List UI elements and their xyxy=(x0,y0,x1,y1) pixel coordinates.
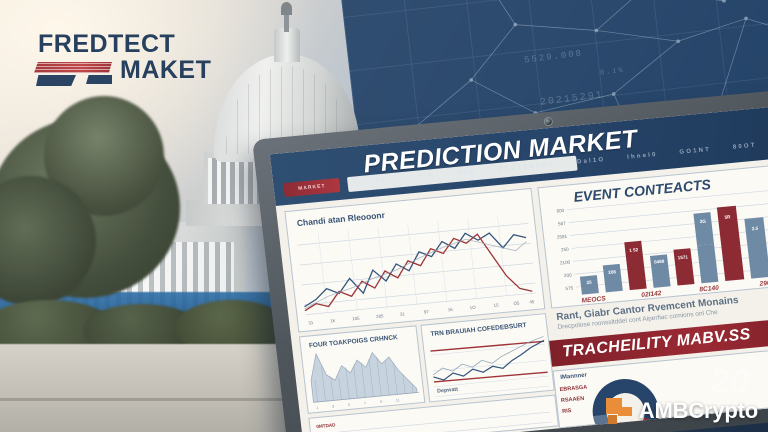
market-badge-label: MARKET xyxy=(283,178,340,197)
threshold-chart-plot: Depwatt xyxy=(421,314,555,403)
svg-text:208: 208 xyxy=(608,269,617,275)
svg-text:31: 31 xyxy=(400,311,406,316)
svg-text:2581: 2581 xyxy=(557,234,568,240)
svg-text:600: 600 xyxy=(556,208,565,214)
tablet-device: PREDICTION MARKET MARKET THE 7 0 R BEN P… xyxy=(252,89,768,432)
donut-legend-item-2: RIS xyxy=(562,406,590,415)
stone-ledge-foreground xyxy=(0,344,310,432)
capitol-dome-lantern xyxy=(274,28,300,62)
svg-text:5R: 5R xyxy=(724,214,731,220)
ambcrypto-square-logo-icon xyxy=(606,398,632,424)
us-flag-stripes-icon xyxy=(34,62,112,86)
svg-text:2100: 2100 xyxy=(560,260,571,266)
svg-text:31: 31 xyxy=(308,320,314,325)
line-chart-plot: 311k105 2853197 161O15 O545 xyxy=(286,189,547,334)
donut-legend-item-0: EBRASGA xyxy=(559,385,587,394)
svg-text:9: 9 xyxy=(380,400,382,404)
svg-text:97: 97 xyxy=(424,309,430,314)
tablet-screen: PREDICTION MARKET MARKET THE 7 0 R BEN P… xyxy=(270,106,768,432)
donut-legend-item-1: RSAAEN xyxy=(561,395,589,404)
nav-item-6[interactable]: GO1NT xyxy=(679,147,711,156)
bar-chart-plot: 6005672581 2502100200 575 xyxy=(538,165,768,309)
svg-text:5: 5 xyxy=(348,403,350,407)
svg-text:2.5: 2.5 xyxy=(752,226,759,232)
front-camera-icon xyxy=(543,117,553,127)
area-chart-panel[interactable]: FOUR TOAKPOIGS CRHNCK 135 xyxy=(299,325,425,414)
capitol-spire xyxy=(284,12,289,32)
line-chart-panel[interactable]: Chandi atan Rleooonr xyxy=(284,188,545,333)
threshold-chart-panel[interactable]: TRN BRAUIAH COFEDEBSURT Depwatt xyxy=(420,313,554,402)
brand-logo: FREDTECT MAKET xyxy=(30,30,260,88)
svg-text:0468: 0468 xyxy=(654,259,665,265)
svg-text:8C140: 8C140 xyxy=(699,285,719,294)
area-chart-plot: 135 7911 xyxy=(300,326,426,415)
svg-text:15: 15 xyxy=(493,302,499,307)
svg-text:2900: 2900 xyxy=(758,279,768,287)
svg-text:11: 11 xyxy=(396,398,400,402)
svg-text:1 52: 1 52 xyxy=(629,247,639,253)
svg-text:1571: 1571 xyxy=(677,254,688,260)
svg-text:02I142: 02I142 xyxy=(641,290,662,299)
market-badge[interactable]: MARKET xyxy=(283,178,340,197)
ledge-seam xyxy=(0,398,310,401)
svg-text:1: 1 xyxy=(316,406,318,410)
year-overlay: 20 xyxy=(710,363,750,402)
statue-of-freedom-icon xyxy=(281,2,292,15)
footer-strip-label: 0MTDAD xyxy=(316,422,336,429)
svg-text:567: 567 xyxy=(558,221,567,227)
donut-legend: EBRASGA RSAAEN RIS xyxy=(559,385,590,415)
svg-text:16: 16 xyxy=(448,307,454,312)
svg-text:250: 250 xyxy=(561,247,570,253)
svg-text:25: 25 xyxy=(586,280,592,285)
nav-item-7[interactable]: 80OT xyxy=(733,143,757,151)
svg-text:O5: O5 xyxy=(513,300,520,306)
svg-text:1O: 1O xyxy=(469,305,476,311)
bar-chart-panel[interactable]: EVENT CONTEACTS 6005672581 2502100200 57… xyxy=(537,164,768,308)
donut-chart-title: IMannner xyxy=(560,372,587,380)
svg-text:285: 285 xyxy=(376,313,384,319)
svg-text:2G: 2G xyxy=(700,219,707,225)
ambcrypto-watermark: AMBCrypto xyxy=(606,398,758,424)
svg-text:1k: 1k xyxy=(330,318,336,323)
brand-logo-line2: MAKET xyxy=(120,56,211,85)
svg-text:MEOCS: MEOCS xyxy=(581,295,606,304)
ambcrypto-watermark-text: AMBCrypto xyxy=(639,398,758,424)
svg-text:45: 45 xyxy=(529,299,535,304)
screenshot-stage: 5529.008 20215291 8.1% 1,25 FREDTECT MAK… xyxy=(0,0,768,432)
threshold-chart-sub-label: Depwatt xyxy=(437,387,459,395)
nav-item-4[interactable]: Dal1O xyxy=(577,157,606,166)
svg-text:7: 7 xyxy=(364,401,366,405)
svg-text:575: 575 xyxy=(565,285,574,291)
svg-text:105: 105 xyxy=(352,316,360,322)
svg-text:3: 3 xyxy=(332,404,334,408)
svg-text:200: 200 xyxy=(564,272,573,278)
brand-logo-line1: FREDTECT xyxy=(38,30,175,59)
